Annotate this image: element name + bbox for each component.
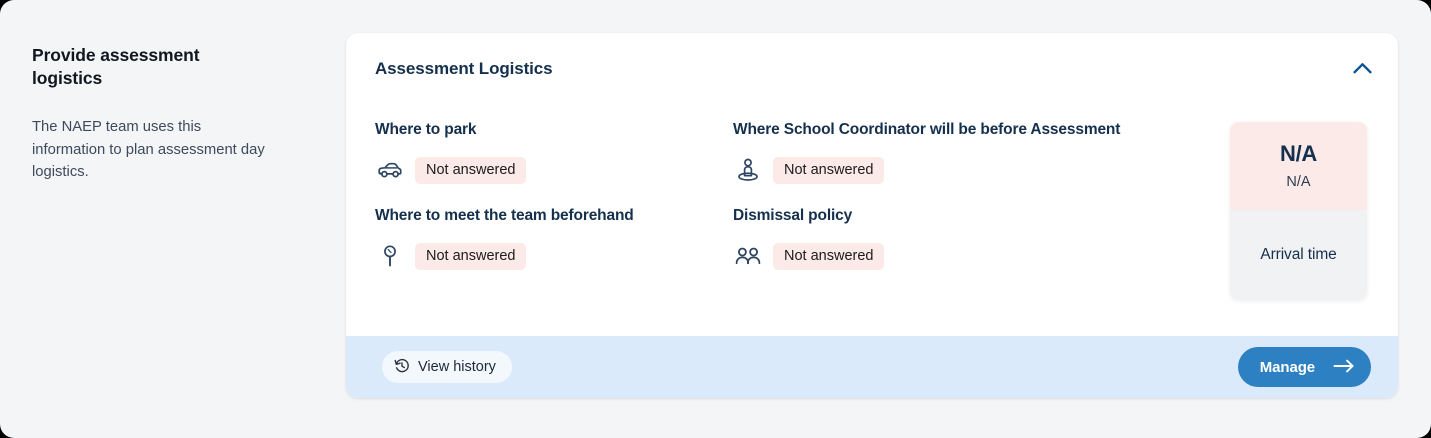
arrival-time-summary-tile: N/A N/A Arrival time xyxy=(1230,122,1367,300)
person-pin-icon xyxy=(733,157,763,183)
question-value: Not answered xyxy=(733,155,1233,185)
manage-label: Manage xyxy=(1260,359,1315,376)
question-value: Not answered xyxy=(375,155,733,185)
collapse-toggle-button[interactable] xyxy=(1344,50,1380,86)
map-pin-icon xyxy=(375,243,405,269)
people-icon xyxy=(733,243,763,269)
question-label: Where to park xyxy=(375,121,733,139)
card-title: Assessment Logistics xyxy=(375,59,553,79)
questions-grid: Where to park Not answered xyxy=(375,121,1245,271)
summary-subvalue: N/A xyxy=(1286,174,1310,190)
card-header: Assessment Logistics xyxy=(346,33,1398,105)
history-clock-icon xyxy=(394,358,410,377)
card-footer: View history Manage xyxy=(346,336,1398,398)
question-dismissal-policy: Dismissal policy Not answered xyxy=(733,207,1233,271)
summary-value-panel: N/A N/A xyxy=(1230,122,1367,210)
questions-row: Where to meet the team beforehand Not an… xyxy=(375,207,1245,271)
summary-caption: Arrival time xyxy=(1260,246,1336,264)
status-badge: Not answered xyxy=(773,157,884,184)
questions-row: Where to park Not answered xyxy=(375,121,1245,185)
page-description: The NAEP team uses this information to p… xyxy=(32,116,272,183)
summary-value: N/A xyxy=(1280,142,1317,166)
question-where-to-park: Where to park Not answered xyxy=(375,121,733,185)
question-coordinator-location: Where School Coordinator will be before … xyxy=(733,121,1233,185)
question-value: Not answered xyxy=(733,241,1233,271)
assessment-logistics-card: Assessment Logistics Where to park xyxy=(346,33,1398,398)
manage-button[interactable]: Manage xyxy=(1238,347,1371,387)
page-root: Provide assessment logistics The NAEP te… xyxy=(0,0,1431,438)
question-label: Where School Coordinator will be before … xyxy=(733,121,1233,139)
chevron-up-icon xyxy=(1353,62,1372,74)
status-badge: Not answered xyxy=(415,243,526,270)
question-value: Not answered xyxy=(375,241,733,271)
summary-caption-panel: Arrival time xyxy=(1230,210,1367,300)
view-history-label: View history xyxy=(418,359,496,375)
status-badge: Not answered xyxy=(415,157,526,184)
page-title: Provide assessment logistics xyxy=(32,44,232,90)
car-icon xyxy=(375,157,405,183)
arrow-right-icon xyxy=(1333,358,1355,377)
question-label: Where to meet the team beforehand xyxy=(375,207,733,225)
question-meet-team: Where to meet the team beforehand Not an… xyxy=(375,207,733,271)
view-history-button[interactable]: View history xyxy=(382,351,512,383)
section-description: Provide assessment logistics The NAEP te… xyxy=(32,44,312,184)
question-label: Dismissal policy xyxy=(733,207,1233,225)
status-badge: Not answered xyxy=(773,243,884,270)
